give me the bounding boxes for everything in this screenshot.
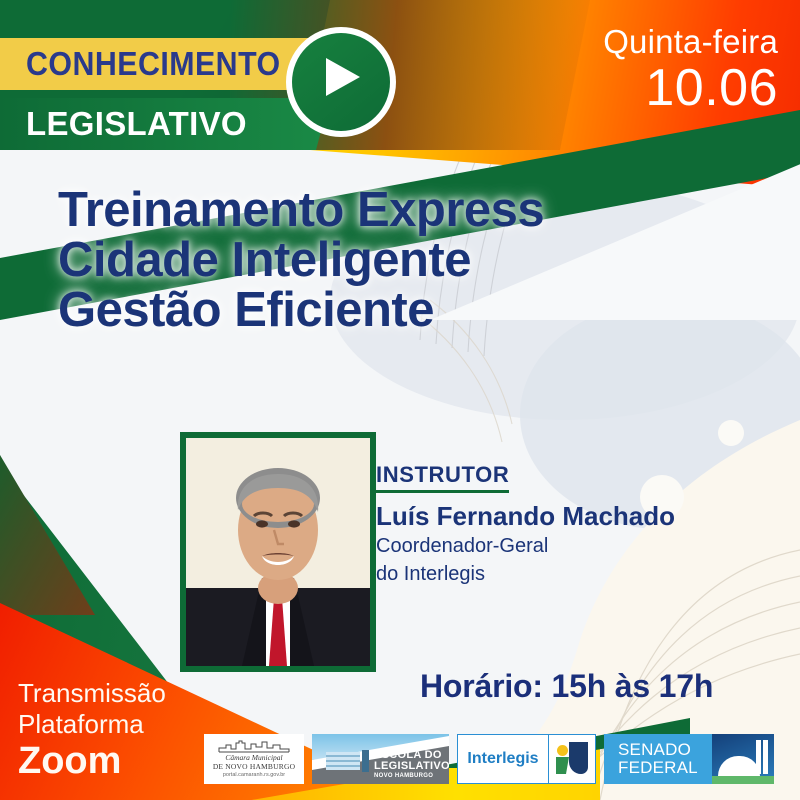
event-poster: CONHECIMENTO LEGISLATIVO Quinta-feira 10…	[0, 0, 800, 800]
event-date: Quinta-feira 10.06	[603, 22, 778, 116]
interlegis-j-icon	[569, 742, 588, 774]
logo-senado-line-2: FEDERAL	[618, 759, 712, 777]
escola-pillar-icon	[362, 750, 369, 772]
senado-dome-shape	[718, 756, 760, 776]
logo-camara-url: portal.camaranh.rs.gov.br	[223, 772, 285, 778]
logo-escola-line-3: NOVO HAMBURGO	[374, 773, 433, 779]
interlegis-sun-icon	[557, 745, 568, 756]
decor-dot-small	[718, 420, 744, 446]
instructor-portrait	[186, 438, 370, 666]
skyline-icon	[218, 740, 290, 753]
title-line-3: Gestão Eficiente	[58, 285, 698, 335]
title-line-1: Treinamento Express	[58, 185, 698, 235]
interlegis-mark-icon	[548, 735, 595, 783]
escola-building-icon	[326, 752, 360, 770]
instructor-info: INSTRUTOR Luís Fernando Machado Coordena…	[376, 462, 706, 587]
logo-senado-line-1: SENADO	[618, 741, 712, 759]
senado-tower-left	[756, 740, 761, 774]
event-day: 10.06	[603, 60, 778, 116]
logo-interlegis-text: Interlegis	[458, 735, 548, 783]
interlegis-leaf-icon	[556, 757, 569, 774]
schedule-text: Horário: 15h às 17h	[420, 668, 713, 705]
senado-ground-strip	[712, 776, 774, 784]
transmission-line-2: Plataforma	[18, 709, 166, 740]
page-title: Treinamento Express Cidade Inteligente G…	[58, 185, 698, 335]
logo-camara-municipal: Câmara Municipal DE NOVO HAMBURGO portal…	[204, 734, 304, 784]
transmission-line-1: Transmissão	[18, 678, 166, 709]
instructor-role-line-2: do Interlegis	[376, 562, 706, 587]
instructor-label: INSTRUTOR	[376, 462, 509, 493]
transmission-info: Transmissão Plataforma Zoom	[18, 678, 166, 782]
logo-escola-line-2: LEGISLATIVO	[374, 761, 449, 772]
instructor-name: Luís Fernando Machado	[376, 501, 706, 531]
logo-camara-line-2: DE NOVO HAMBURGO	[213, 762, 295, 771]
event-weekday: Quinta-feira	[603, 22, 778, 62]
senado-congress-icon	[712, 734, 774, 784]
logo-interlegis: Interlegis	[457, 734, 596, 784]
play-icon	[286, 27, 396, 137]
play-icon-triangle	[326, 58, 360, 96]
senado-text-block: SENADO FEDERAL	[604, 734, 712, 784]
instructor-role-line-1: Coordenador-Geral	[376, 534, 706, 559]
logo-camara-line-1: Câmara Municipal	[225, 753, 282, 762]
instructor-photo	[180, 432, 376, 672]
logo-escola-do-legislativo: ESCOLA DO LEGISLATIVO NOVO HAMBURGO	[312, 734, 449, 784]
transmission-platform: Zoom	[18, 740, 166, 782]
footer-logos: Câmara Municipal DE NOVO HAMBURGO portal…	[204, 734, 774, 784]
title-line-2: Cidade Inteligente	[58, 235, 698, 285]
senado-tower-right	[763, 740, 768, 774]
brand-line-conhecimento: CONHECIMENTO	[26, 41, 311, 87]
logo-senado-federal: SENADO FEDERAL	[604, 734, 774, 784]
